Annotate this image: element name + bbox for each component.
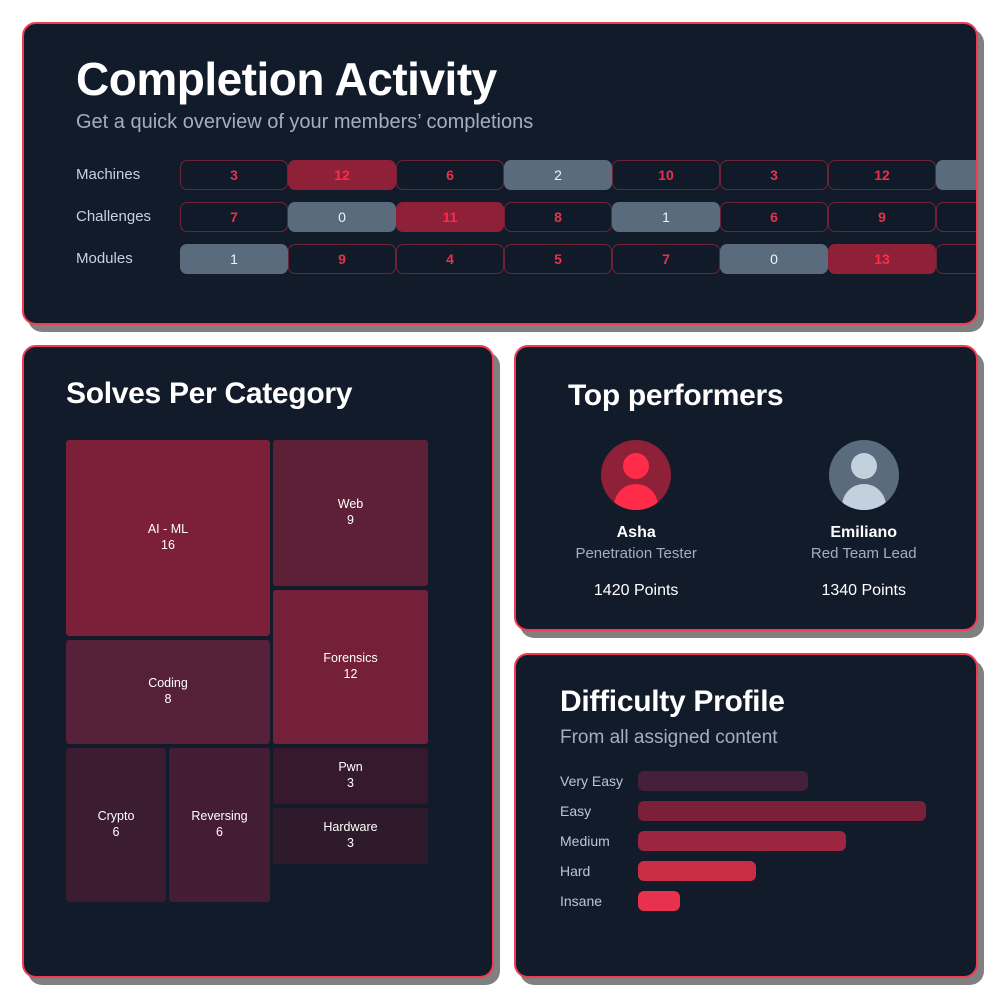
avatar: [601, 440, 671, 510]
difficulty-subtitle: From all assigned content: [560, 727, 976, 749]
activity-cell-slot: 3: [180, 160, 288, 190]
activity-cell[interactable]: 6: [720, 202, 828, 232]
activity-cell-slot: 2: [504, 160, 612, 190]
activity-cell[interactable]: 9: [288, 244, 396, 274]
user-avatar-body-icon: [842, 484, 886, 510]
activity-cell[interactable]: 12: [828, 160, 936, 190]
activity-cell[interactable]: 8: [504, 202, 612, 232]
treemap-tile[interactable]: Coding8: [66, 640, 270, 744]
treemap-tile-value: 16: [161, 538, 175, 554]
difficulty-title: Difficulty Profile: [560, 685, 976, 720]
performer-name: Emiliano: [830, 524, 897, 542]
treemap-tile[interactable]: Hardware3: [273, 808, 428, 864]
difficulty-row: Medium: [560, 831, 976, 851]
activity-cell[interactable]: [936, 160, 978, 190]
activity-cell-slot: [936, 244, 978, 274]
activity-heatmap-grid: Machines3126210312Challenges70118169Modu…: [24, 160, 976, 274]
performer-entry[interactable]: AshaPenetration Tester1420 Points: [575, 440, 696, 600]
activity-cell-slot: 11: [396, 202, 504, 232]
treemap-tile-label: Web: [338, 497, 363, 513]
treemap-tile-value: 3: [347, 836, 354, 852]
user-avatar-icon: [851, 453, 877, 479]
activity-cell-slot: 13: [828, 244, 936, 274]
activity-cell-slot: 4: [396, 244, 504, 274]
activity-cell-slot: 1: [180, 244, 288, 274]
difficulty-profile-card: Difficulty Profile From all assigned con…: [514, 653, 978, 978]
activity-row-label: Challenges: [76, 208, 180, 225]
activity-cell[interactable]: 13: [828, 244, 936, 274]
difficulty-label: Easy: [560, 803, 638, 819]
activity-cells: 70118169: [180, 202, 978, 232]
activity-row: Machines3126210312: [76, 160, 976, 190]
dashboard-page: Completion Activity Get a quick overview…: [0, 0, 1000, 1000]
treemap-tile-label: AI - ML: [148, 522, 188, 538]
performer-points: 1420 Points: [594, 582, 679, 600]
completion-activity-card: Completion Activity Get a quick overview…: [22, 22, 978, 325]
activity-cell[interactable]: 3: [720, 160, 828, 190]
treemap-chart: AI - ML16Web9Coding8Forensics12Crypto6Re…: [66, 440, 428, 902]
activity-cell[interactable]: 11: [396, 202, 504, 232]
activity-cell-slot: 6: [720, 202, 828, 232]
treemap-tile-value: 8: [165, 692, 172, 708]
treemap-tile-label: Reversing: [191, 809, 247, 825]
treemap-tile-label: Hardware: [323, 820, 377, 836]
treemap-tile[interactable]: AI - ML16: [66, 440, 270, 636]
difficulty-label: Very Easy: [560, 773, 638, 789]
activity-cell[interactable]: 12: [288, 160, 396, 190]
activity-cell-slot: [936, 202, 978, 232]
activity-cell-slot: 7: [180, 202, 288, 232]
treemap-tile-value: 9: [347, 513, 354, 529]
activity-cell-slot: 8: [504, 202, 612, 232]
activity-cell[interactable]: 4: [396, 244, 504, 274]
treemap-tile-label: Coding: [148, 676, 188, 692]
activity-cell-slot: 10: [612, 160, 720, 190]
activity-row-label: Modules: [76, 250, 180, 267]
activity-cell[interactable]: 9: [828, 202, 936, 232]
right-column: Top performers AshaPenetration Tester142…: [514, 345, 978, 978]
avatar: [829, 440, 899, 510]
performers-list: AshaPenetration Tester1420 PointsEmilian…: [516, 440, 976, 600]
user-avatar-icon: [623, 453, 649, 479]
page-title: Completion Activity: [76, 54, 976, 105]
activity-cell[interactable]: 7: [180, 202, 288, 232]
activity-cell-slot: 6: [396, 160, 504, 190]
activity-cells: 19457013: [180, 244, 978, 274]
activity-cell-slot: 3: [720, 160, 828, 190]
treemap-tile[interactable]: Crypto6: [66, 748, 166, 902]
difficulty-row: Very Easy: [560, 771, 976, 791]
activity-cell[interactable]: 6: [396, 160, 504, 190]
activity-cell[interactable]: 7: [612, 244, 720, 274]
performer-name: Asha: [617, 524, 656, 542]
activity-cell[interactable]: [936, 202, 978, 232]
treemap-tile[interactable]: Pwn3: [273, 748, 428, 804]
treemap-tile[interactable]: Forensics12: [273, 590, 428, 744]
difficulty-label: Medium: [560, 833, 638, 849]
user-avatar-body-icon: [614, 484, 658, 510]
treemap-tile-label: Crypto: [98, 809, 135, 825]
activity-cell-slot: 0: [288, 202, 396, 232]
difficulty-row: Easy: [560, 801, 976, 821]
performer-role: Penetration Tester: [575, 545, 696, 562]
treemap-tile-label: Forensics: [323, 651, 377, 667]
activity-cell-slot: [936, 160, 978, 190]
activity-cell-slot: 7: [612, 244, 720, 274]
difficulty-bar[interactable]: [638, 801, 926, 821]
activity-cell[interactable]: 0: [288, 202, 396, 232]
activity-cell[interactable]: [936, 244, 978, 274]
difficulty-row: Insane: [560, 891, 976, 911]
activity-cell[interactable]: 3: [180, 160, 288, 190]
activity-cell[interactable]: 10: [612, 160, 720, 190]
performer-role: Red Team Lead: [811, 545, 917, 562]
difficulty-label: Insane: [560, 893, 638, 909]
treemap-tile-value: 12: [344, 667, 358, 683]
difficulty-bar[interactable]: [638, 861, 756, 881]
activity-cell-slot: 1: [612, 202, 720, 232]
activity-cell[interactable]: 2: [504, 160, 612, 190]
difficulty-row: Hard: [560, 861, 976, 881]
difficulty-bar[interactable]: [638, 771, 808, 791]
solves-per-category-card: Solves Per Category AI - ML16Web9Coding8…: [22, 345, 494, 978]
activity-cell-slot: 5: [504, 244, 612, 274]
treemap-tile-value: 3: [347, 776, 354, 792]
activity-cell-slot: 12: [828, 160, 936, 190]
activity-cell[interactable]: 5: [504, 244, 612, 274]
lower-section: Solves Per Category AI - ML16Web9Coding8…: [22, 345, 978, 978]
activity-cell[interactable]: 0: [720, 244, 828, 274]
activity-row-label: Machines: [76, 166, 180, 183]
activity-row: Challenges70118169: [76, 202, 976, 232]
performer-entry[interactable]: EmilianoRed Team Lead1340 Points: [811, 440, 917, 600]
treemap-tile-label: Pwn: [338, 760, 362, 776]
activity-cell-slot: 0: [720, 244, 828, 274]
activity-cell[interactable]: 1: [180, 244, 288, 274]
top-performers-card: Top performers AshaPenetration Tester142…: [514, 345, 978, 631]
difficulty-bar-chart: Very EasyEasyMediumHardInsane: [560, 771, 976, 911]
treemap-tile[interactable]: Reversing6: [169, 748, 270, 902]
performers-title: Top performers: [568, 379, 976, 414]
difficulty-label: Hard: [560, 863, 638, 879]
treemap-title: Solves Per Category: [66, 377, 492, 412]
activity-cells: 3126210312: [180, 160, 978, 190]
difficulty-bar[interactable]: [638, 891, 680, 911]
page-subtitle: Get a quick overview of your members’ co…: [76, 111, 976, 134]
activity-cell-slot: 12: [288, 160, 396, 190]
activity-row: Modules19457013: [76, 244, 976, 274]
treemap-tile[interactable]: Web9: [273, 440, 428, 586]
performer-points: 1340 Points: [821, 582, 906, 600]
activity-cell-slot: 9: [828, 202, 936, 232]
activity-cell-slot: 9: [288, 244, 396, 274]
treemap-tile-value: 6: [216, 825, 223, 841]
activity-cell[interactable]: 1: [612, 202, 720, 232]
difficulty-bar[interactable]: [638, 831, 846, 851]
treemap-tile-value: 6: [113, 825, 120, 841]
